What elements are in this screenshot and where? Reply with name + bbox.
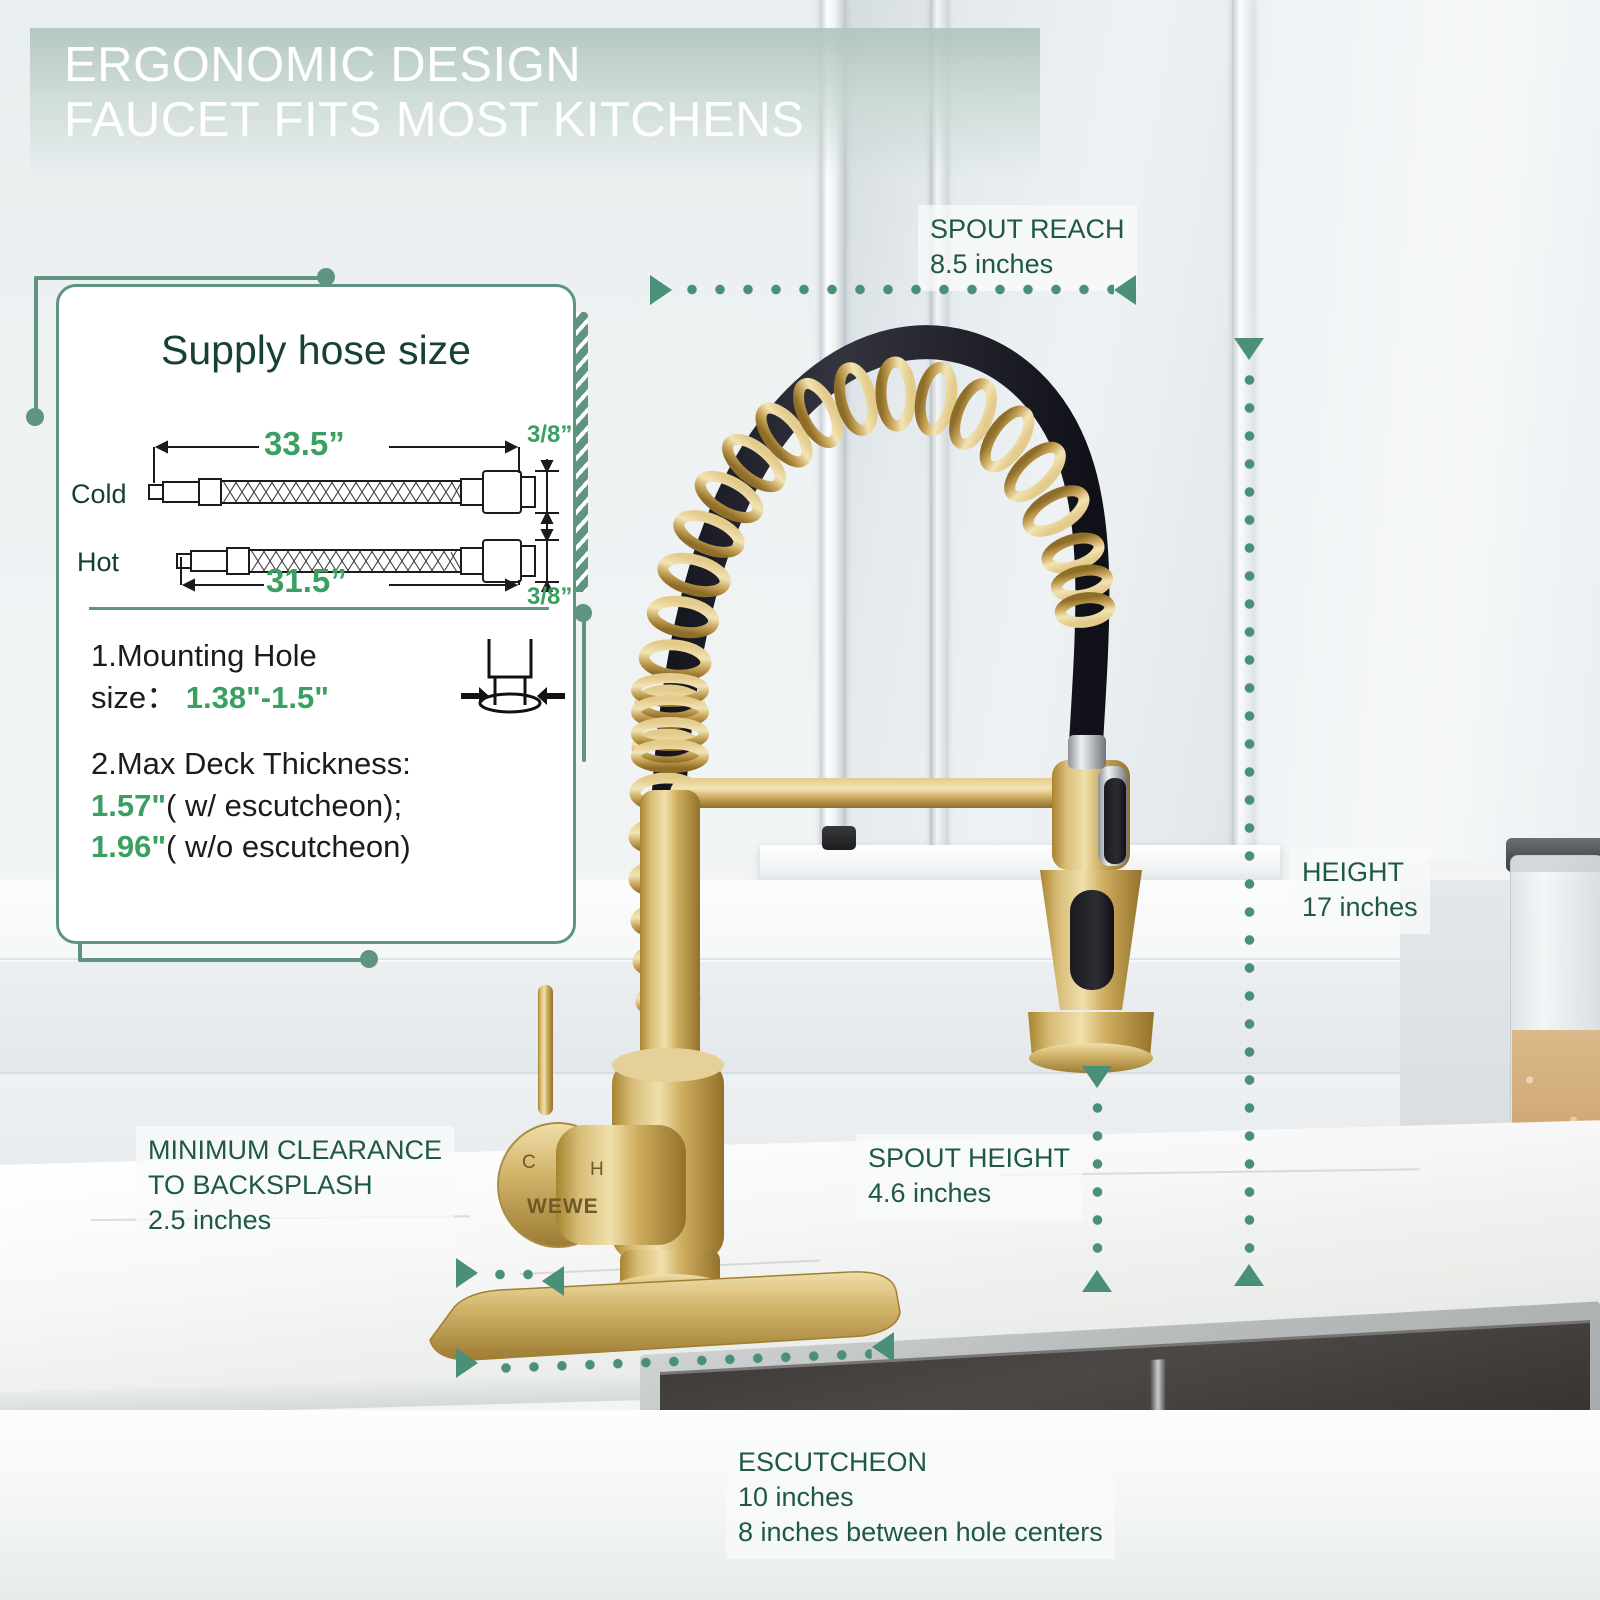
spout-reach-arrow-left [650, 275, 672, 305]
bracket-dot [26, 408, 44, 426]
supply-hose-diagram: Cold Hot 33.5” 31.5” 3/8” 3/8” [59, 397, 579, 587]
callout-escutcheon: ESCUTCHEON 10 inches 8 inches between ho… [726, 1438, 1115, 1559]
mounting-hole-icon [459, 635, 569, 715]
spout-height-arrow-bottom [1082, 1270, 1112, 1292]
corner-bracket-top-left [34, 276, 38, 416]
spout-reach-arrow-right [1114, 275, 1136, 305]
min-clearance-value: 2.5 inches [148, 1203, 442, 1238]
escutcheon-arrow-right [872, 1332, 894, 1362]
window-glass-right [1250, 0, 1600, 860]
spec-card-wrapper: Supply hose size [22, 262, 602, 982]
min-clearance-title-1: MINIMUM CLEARANCE [148, 1133, 442, 1168]
card-divider [89, 607, 549, 610]
spout-height-title: SPOUT HEIGHT [868, 1141, 1070, 1176]
supply-hose-title: Supply hose size [59, 327, 573, 374]
hose-hot-length: 31.5” [266, 562, 347, 600]
hose-hot-label: Hot [77, 547, 119, 578]
spec2-value-a: 1.57" [91, 788, 166, 823]
spec1-title: 1.Mounting Hole [91, 638, 317, 673]
title-line-2: FAUCET FITS MOST KITCHENS [64, 93, 1040, 148]
product-infographic: C H WEWE ERGONOMIC DESIGN FAUCET FITS MO… [0, 0, 1600, 1600]
height-title: HEIGHT [1302, 855, 1418, 890]
spout-height-value: 4.6 inches [868, 1176, 1070, 1211]
spec-card: Supply hose size [56, 284, 576, 944]
hose-cold-length: 33.5” [264, 425, 345, 463]
corner-bracket-right [582, 612, 586, 762]
escutcheon-title: ESCUTCHEON [738, 1445, 1103, 1480]
spout-reach-guide [678, 283, 1114, 296]
spec2-note-b: ( w/o escutcheon) [166, 829, 411, 864]
spout-reach-title: SPOUT REACH [930, 212, 1125, 247]
escutcheon-value-2: 8 inches between hole centers [738, 1515, 1103, 1550]
min-clearance-arrow-left [456, 1258, 478, 1288]
hose-cold-label: Cold [71, 479, 127, 510]
spec-deck-thickness: 2.Max Deck Thickness: 1.57"( w/ escutche… [91, 743, 511, 868]
spec2-note-a: ( w/ escutcheon); [166, 788, 402, 823]
height-guide [1243, 366, 1256, 1264]
spout-height-arrow-top [1082, 1066, 1112, 1088]
escutcheon-arrow-left [456, 1348, 478, 1378]
page-title: ERGONOMIC DESIGN FAUCET FITS MOST KITCHE… [30, 28, 1040, 149]
escutcheon-value-1: 10 inches [738, 1480, 1103, 1515]
min-clearance-title-2: TO BACKSPLASH [148, 1168, 442, 1203]
window-latch [822, 826, 856, 850]
spec2-value-b: 1.96" [91, 829, 166, 864]
spec1-prefix: size： [91, 680, 177, 715]
height-arrow-top [1234, 338, 1264, 360]
title-banner: ERGONOMIC DESIGN FAUCET FITS MOST KITCHE… [30, 28, 1040, 178]
height-arrow-bottom [1234, 1264, 1264, 1286]
corner-bracket-top [34, 276, 324, 280]
spec-mounting-hole: 1.Mounting Hole size： 1.38"-1.5" [91, 635, 511, 718]
bracket-dot [574, 604, 592, 622]
callout-spout-height: SPOUT HEIGHT 4.6 inches [856, 1134, 1082, 1220]
callout-height: HEIGHT 17 inches [1290, 848, 1430, 934]
spout-height-guide [1091, 1094, 1104, 1270]
bracket-dot [360, 950, 378, 968]
title-line-1: ERGONOMIC DESIGN [64, 38, 1040, 93]
min-clearance-arrow-right [542, 1266, 564, 1296]
callout-spout-reach: SPOUT REACH 8.5 inches [918, 205, 1137, 291]
window-sill [760, 845, 1280, 885]
hose-cold-fitting: 3/8” [527, 421, 572, 449]
spec2-title: 2.Max Deck Thickness: [91, 746, 411, 781]
corner-bracket-bottom [78, 958, 368, 962]
spout-reach-value: 8.5 inches [930, 247, 1125, 282]
spec1-value: 1.38"-1.5" [186, 680, 329, 715]
min-clearance-guide [486, 1268, 540, 1281]
callout-min-clearance: MINIMUM CLEARANCE TO BACKSPLASH 2.5 inch… [136, 1126, 454, 1247]
height-value: 17 inches [1302, 890, 1418, 925]
